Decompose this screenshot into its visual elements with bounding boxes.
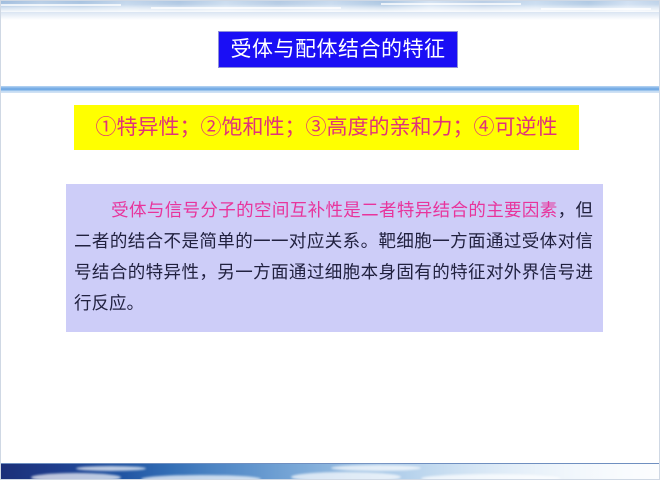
top-band-streak (151, 7, 341, 9)
body-paragraph: 受体与信号分子的空间互补性是二者特异结合的主要因素，但二者的结合不是简单的一一对… (74, 195, 593, 319)
header-divider-hairline (1, 92, 660, 93)
slide: 受体与配体结合的特征 ①特异性；②饱和性；③高度的亲和力；④可逆性 受体与信号分… (0, 0, 660, 480)
bottom-decorative-band (1, 464, 660, 480)
cloud-shape (421, 474, 561, 480)
top-band-streak (541, 8, 651, 10)
cloud-shape (141, 475, 261, 480)
cloud-shape (76, 466, 146, 471)
highlight-list-text: ①特异性；②饱和性；③高度的亲和力；④可逆性 (96, 117, 558, 138)
body-paragraph-lead: 受体与信号分子的空间互补性是二者特异结合的主要因素 (111, 200, 558, 220)
cloud-shape (291, 472, 401, 480)
slide-title: 受体与配体结合的特征 (231, 39, 446, 60)
slide-title-box: 受体与配体结合的特征 (218, 31, 458, 68)
body-text-panel: 受体与信号分子的空间互补性是二者特异结合的主要因素，但二者的结合不是简单的一一对… (66, 184, 603, 332)
highlight-list-box: ①特异性；②饱和性；③高度的亲和力；④可逆性 (74, 105, 579, 150)
top-band-streak (381, 3, 521, 5)
cloud-shape (331, 465, 421, 471)
cloud-shape (31, 473, 121, 480)
top-band-fade (1, 12, 660, 20)
top-band-streak (1, 4, 121, 6)
